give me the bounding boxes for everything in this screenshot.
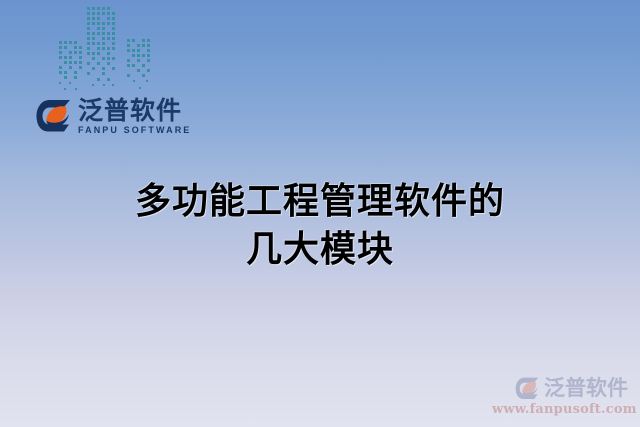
slide-title-line-1: 多功能工程管理软件的 (0, 178, 640, 226)
slide-title: 多功能工程管理软件的 几大模块 (0, 178, 640, 274)
brand-wordmark: 泛普软件 FANPU SOFTWARE (78, 97, 191, 135)
watermark-url: www.fanpusoft.com (492, 402, 628, 417)
slide-title-line-2: 几大模块 (0, 226, 640, 274)
watermark: 泛普软件 www.fanpusoft.com (492, 375, 628, 417)
brand-name-cn: 泛普软件 (78, 97, 191, 124)
brand-name-en: FANPU SOFTWARE (78, 126, 191, 135)
fanpu-logo-icon (36, 99, 72, 133)
fanpu-logo-watermark-icon (515, 377, 540, 400)
watermark-logo-row: 泛普软件 (492, 375, 628, 401)
pixel-skyline-icon (56, 0, 156, 96)
brand-logo: 泛普软件 FANPU SOFTWARE (36, 94, 191, 138)
presentation-slide: 泛普软件 FANPU SOFTWARE 多功能工程管理软件的 几大模块 泛普软件… (0, 0, 640, 427)
watermark-name-cn: 泛普软件 (544, 377, 628, 400)
